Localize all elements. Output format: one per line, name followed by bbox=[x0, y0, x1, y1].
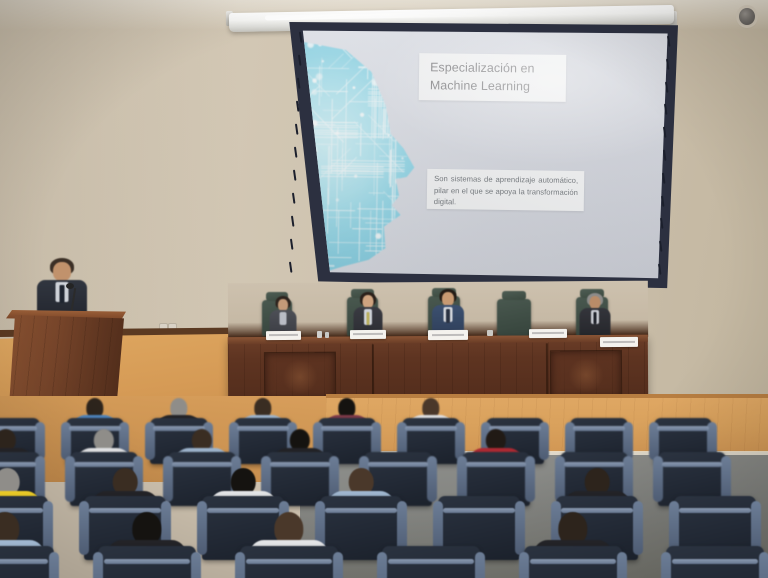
projection-screen: Especialización en Machine Learning Son … bbox=[226, 22, 678, 290]
panel-chair-empty bbox=[497, 299, 531, 336]
table-object-glass bbox=[487, 330, 493, 336]
table-object-cup bbox=[317, 331, 322, 338]
panelist-3-tie bbox=[446, 309, 450, 323]
panelist-1-shirt bbox=[280, 312, 287, 325]
table-seam-1 bbox=[372, 344, 374, 400]
panelist-3-head bbox=[442, 292, 454, 306]
name-placard-1 bbox=[266, 331, 301, 340]
screen-tension-tabs bbox=[226, 22, 678, 290]
auditorium-photo-scene: Especialización en Machine Learning Son … bbox=[0, 0, 768, 578]
speaker-head bbox=[53, 262, 71, 281]
table-seam-2 bbox=[546, 343, 548, 399]
panelist-2-lanyard bbox=[367, 312, 370, 325]
microphone-icon bbox=[66, 283, 74, 289]
audience-section bbox=[0, 400, 768, 578]
panelist-4-tie bbox=[593, 312, 596, 324]
name-placard-3 bbox=[428, 330, 468, 340]
table-emblem-right bbox=[550, 350, 622, 399]
table-object-bottle bbox=[325, 332, 329, 338]
name-placard-4 bbox=[529, 329, 567, 338]
head-table bbox=[228, 335, 648, 402]
speaker-tie bbox=[60, 285, 65, 303]
name-placard-2 bbox=[350, 330, 386, 339]
wall-speaker-icon bbox=[739, 8, 755, 25]
name-placard-5 bbox=[600, 337, 638, 347]
panelist-4 bbox=[578, 293, 611, 338]
